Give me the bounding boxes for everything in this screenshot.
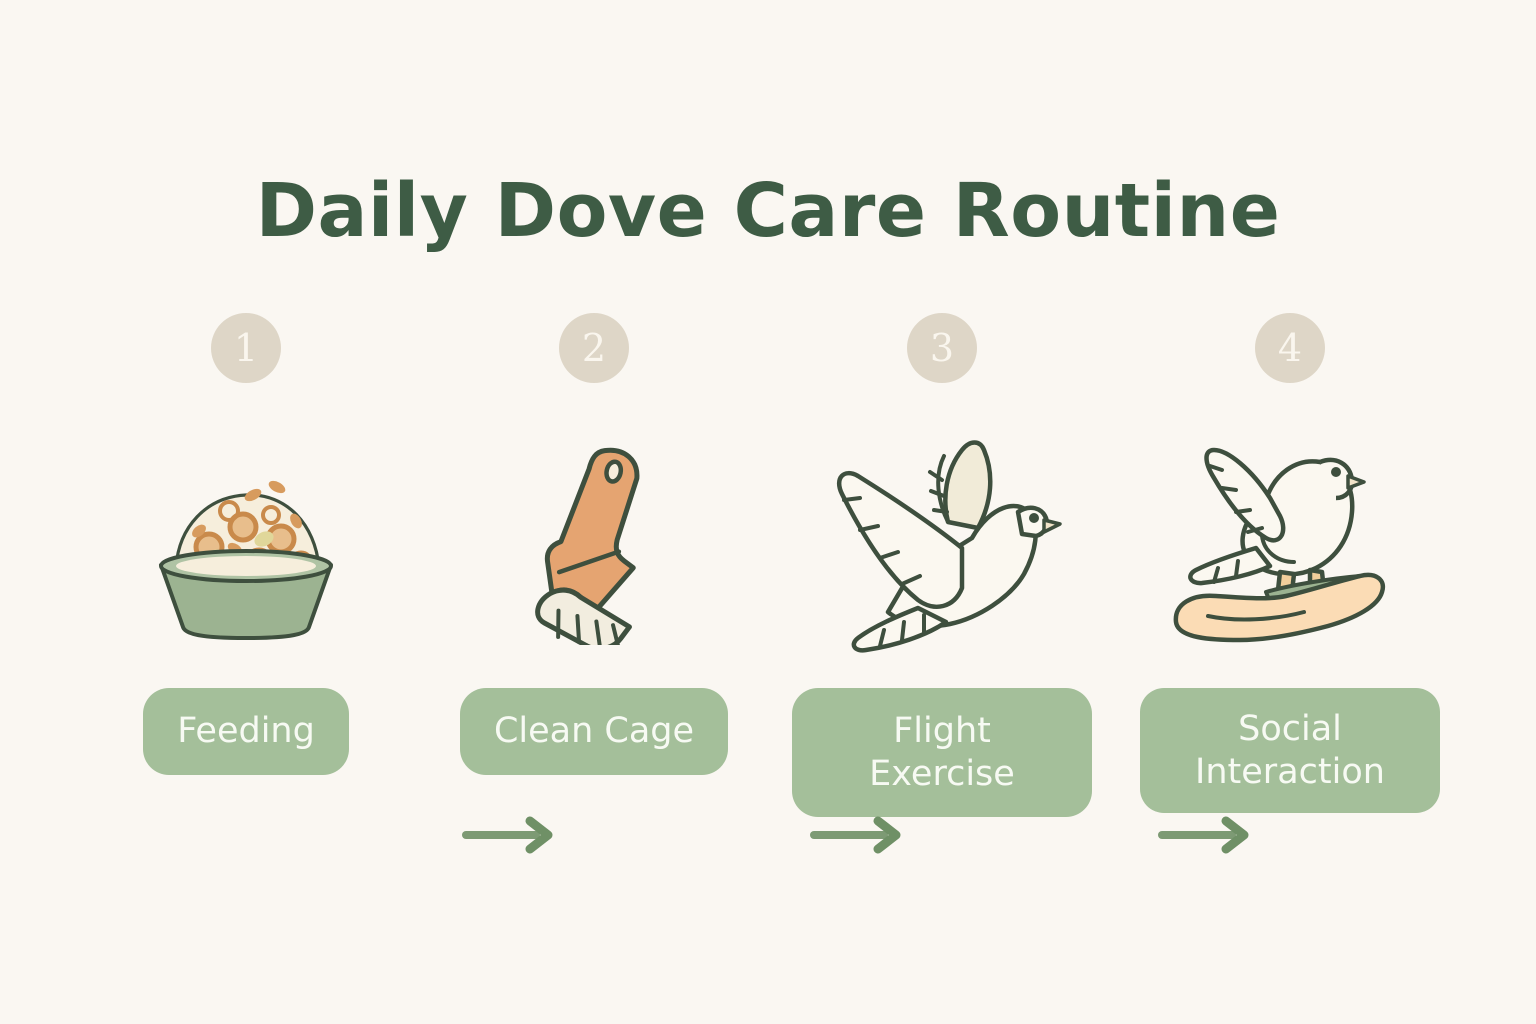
arrow-step-3-to-4 bbox=[1158, 815, 1254, 855]
step-number-badge: 2 bbox=[559, 313, 629, 383]
step-label-container: Flight Exercise bbox=[792, 688, 1092, 817]
step-number-badge: 3 bbox=[907, 313, 977, 383]
step-badge-container: 4 bbox=[1140, 313, 1440, 383]
step-badge-container: 1 bbox=[96, 313, 396, 383]
dove-on-hand-icon bbox=[1140, 415, 1440, 665]
step-label-container: Clean Cage bbox=[444, 688, 744, 775]
step-label-flight-exercise[interactable]: Flight Exercise bbox=[792, 688, 1092, 817]
step-item-clean-cage[interactable]: 2 bbox=[444, 300, 744, 860]
step-badge-container: 3 bbox=[792, 313, 1092, 383]
step-item-flight-exercise[interactable]: 3 Flight Exercis bbox=[792, 300, 1092, 860]
cleaning-brush-icon bbox=[444, 415, 744, 665]
step-number-badge: 1 bbox=[211, 313, 281, 383]
step-badge-container: 2 bbox=[444, 313, 744, 383]
food-bowl-icon bbox=[96, 415, 396, 665]
step-label-container: Feeding bbox=[96, 688, 396, 775]
step-item-feeding[interactable]: 1 bbox=[96, 300, 396, 860]
page-title: Daily Dove Care Routine bbox=[0, 168, 1536, 254]
step-number-badge: 4 bbox=[1255, 313, 1325, 383]
step-item-social-interaction[interactable]: 4 bbox=[1140, 300, 1440, 860]
step-label-social-interaction[interactable]: Social Interaction bbox=[1140, 688, 1440, 813]
steps-row: 1 bbox=[96, 300, 1440, 860]
flying-dove-icon bbox=[792, 415, 1092, 665]
step-label-feeding[interactable]: Feeding bbox=[143, 688, 349, 775]
arrow-step-1-to-2 bbox=[462, 815, 558, 855]
arrow-step-2-to-3 bbox=[810, 815, 906, 855]
step-label-container: Social Interaction bbox=[1140, 688, 1440, 813]
step-label-clean-cage[interactable]: Clean Cage bbox=[460, 688, 728, 775]
